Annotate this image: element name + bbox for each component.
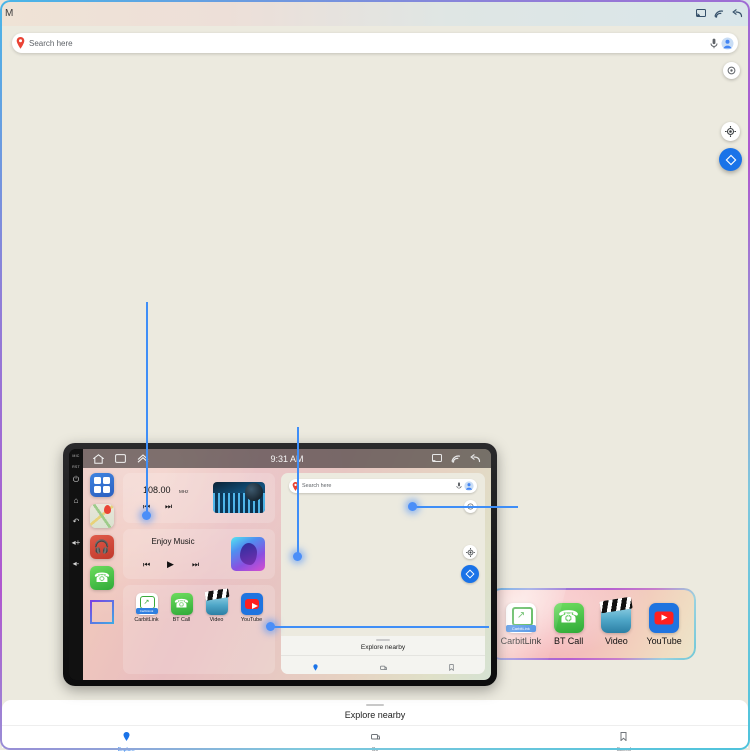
clock-fragment: M xyxy=(5,8,13,19)
app-bt-call[interactable]: ☎ BT Call xyxy=(548,603,590,646)
sheet-grab-handle[interactable] xyxy=(376,639,390,641)
cast-icon[interactable] xyxy=(432,454,442,463)
loading-ring-icon xyxy=(90,600,114,624)
map-search-bar[interactable]: Search here xyxy=(12,33,172,53)
connector-dot-music xyxy=(293,552,302,561)
device-map-my-location-button[interactable] xyxy=(463,545,477,559)
carbitlink-icon: ↗ CarbitLink xyxy=(506,603,536,633)
back-icon[interactable] xyxy=(470,454,481,463)
volume-up-icon[interactable]: ◂+ xyxy=(72,539,81,547)
device-map-tab-explore[interactable]: Explore xyxy=(281,656,349,674)
carbitlink-badge: CarbitLink xyxy=(136,608,158,614)
microphone-icon[interactable] xyxy=(456,482,462,490)
status-clock: 9:31 AM xyxy=(83,454,491,464)
device-radio-unit: MHz xyxy=(179,489,188,494)
map-search-placeholder: Search here xyxy=(29,39,172,48)
app-youtube[interactable]: YouTube xyxy=(643,603,685,646)
youtube-icon xyxy=(241,593,263,615)
device-map-tab-go[interactable]: Go xyxy=(349,656,417,674)
phone-icon: ☎ xyxy=(171,593,193,615)
device-map-search[interactable]: Search here xyxy=(289,479,477,493)
app-video-label: Video xyxy=(595,636,637,646)
device-app-carbitlink-label: CarbitLink xyxy=(131,617,163,623)
connector-map xyxy=(412,506,518,508)
phone-icon: ☎ xyxy=(554,603,584,633)
device-map-tab-saved[interactable]: Saved xyxy=(417,656,485,674)
device-music-next[interactable]: ⏭ xyxy=(192,560,199,570)
connector-radio xyxy=(146,302,148,516)
device-radio-next[interactable]: ⏭ xyxy=(165,502,172,512)
map-pin-icon xyxy=(16,37,25,49)
app-video[interactable]: Video xyxy=(595,603,637,646)
map-app-card: M Search here Explore nearby Explore xyxy=(0,0,172,212)
map-status-bar: M xyxy=(0,0,172,26)
app-carbitlink-label: CarbitLink xyxy=(500,636,542,646)
wifi-icon[interactable] xyxy=(451,454,461,463)
device-app-youtube-label: YouTube xyxy=(236,617,268,623)
device-app-video-label: Video xyxy=(201,617,233,623)
map-canvas[interactable] xyxy=(0,26,172,212)
device-music-play[interactable]: ▶ xyxy=(167,559,174,570)
device-music-widget[interactable]: Enjoy Music ⏮ ▶ ⏭ xyxy=(123,529,275,579)
power-icon[interactable]: ⏻ xyxy=(73,476,79,484)
connector-dot-apps xyxy=(266,622,275,631)
all-apps-icon[interactable] xyxy=(90,473,114,497)
carbitlink-icon: ↗ CarbitLink xyxy=(136,593,158,615)
device-app-video[interactable]: Video xyxy=(201,593,233,623)
connector-dot-map xyxy=(408,502,417,511)
device-music-title: Enjoy Music xyxy=(123,537,223,546)
device-app-dock: 🎧 ☎ xyxy=(87,473,117,674)
device-map-search-placeholder: Search here xyxy=(302,483,456,489)
avatar-icon[interactable] xyxy=(464,481,474,491)
reset-label: RST xyxy=(72,465,80,469)
video-clapper-icon xyxy=(601,603,631,633)
carbitlink-badge: CarbitLink xyxy=(506,625,536,632)
volume-down-icon[interactable]: ◂- xyxy=(73,560,80,568)
music-icon[interactable]: 🎧 xyxy=(90,535,114,559)
device-app-bt-call-label: BT Call xyxy=(166,617,198,623)
device-album-art xyxy=(231,537,265,571)
device-apps-widget: ↗ CarbitLink CarbitLink ☎ BT Call Video xyxy=(123,585,275,674)
device-side-buttons: MIC RST ⏻ ⌂ ↶ ◂+ ◂- xyxy=(69,449,83,680)
device-map-widget[interactable]: Search here Explore nearby xyxy=(281,473,485,674)
device-map-sheet: Explore nearby Explore Go Saved xyxy=(281,636,485,674)
connector-music xyxy=(297,427,299,557)
device-app-carbitlink[interactable]: ↗ CarbitLink CarbitLink xyxy=(131,593,163,623)
car-head-unit: MIC RST ⏻ ⌂ ↶ ◂+ ◂- 9:31 AM xyxy=(63,443,497,686)
device-radio-thumbnail xyxy=(213,482,265,513)
maps-icon[interactable] xyxy=(90,504,114,528)
device-explore-nearby-label[interactable]: Explore nearby xyxy=(281,644,485,651)
app-carbitlink[interactable]: ↗ CarbitLink CarbitLink xyxy=(500,603,542,646)
apps-dock-card: ↗ CarbitLink CarbitLink ☎ BT Call Video … xyxy=(489,588,696,660)
back-icon[interactable]: ↶ xyxy=(73,518,80,526)
video-clapper-icon xyxy=(206,593,228,615)
device-music-prev[interactable]: ⏮ xyxy=(143,560,150,570)
device-app-bt-call[interactable]: ☎ BT Call xyxy=(166,593,198,623)
device-map-directions-button[interactable] xyxy=(461,565,479,583)
phone-icon[interactable]: ☎ xyxy=(90,566,114,590)
device-status-bar: 9:31 AM xyxy=(83,449,491,468)
connector-dot-radio xyxy=(142,511,151,520)
connector-apps xyxy=(270,626,489,628)
youtube-icon xyxy=(649,603,679,633)
app-youtube-label: YouTube xyxy=(643,636,685,646)
mic-label: MIC xyxy=(72,454,79,458)
device-app-youtube[interactable]: YouTube xyxy=(236,593,268,623)
home-icon[interactable]: ⌂ xyxy=(74,497,79,505)
device-screen: 9:31 AM 🎧 ☎ 108.00 MHz xyxy=(83,449,491,680)
app-bt-call-label: BT Call xyxy=(548,636,590,646)
